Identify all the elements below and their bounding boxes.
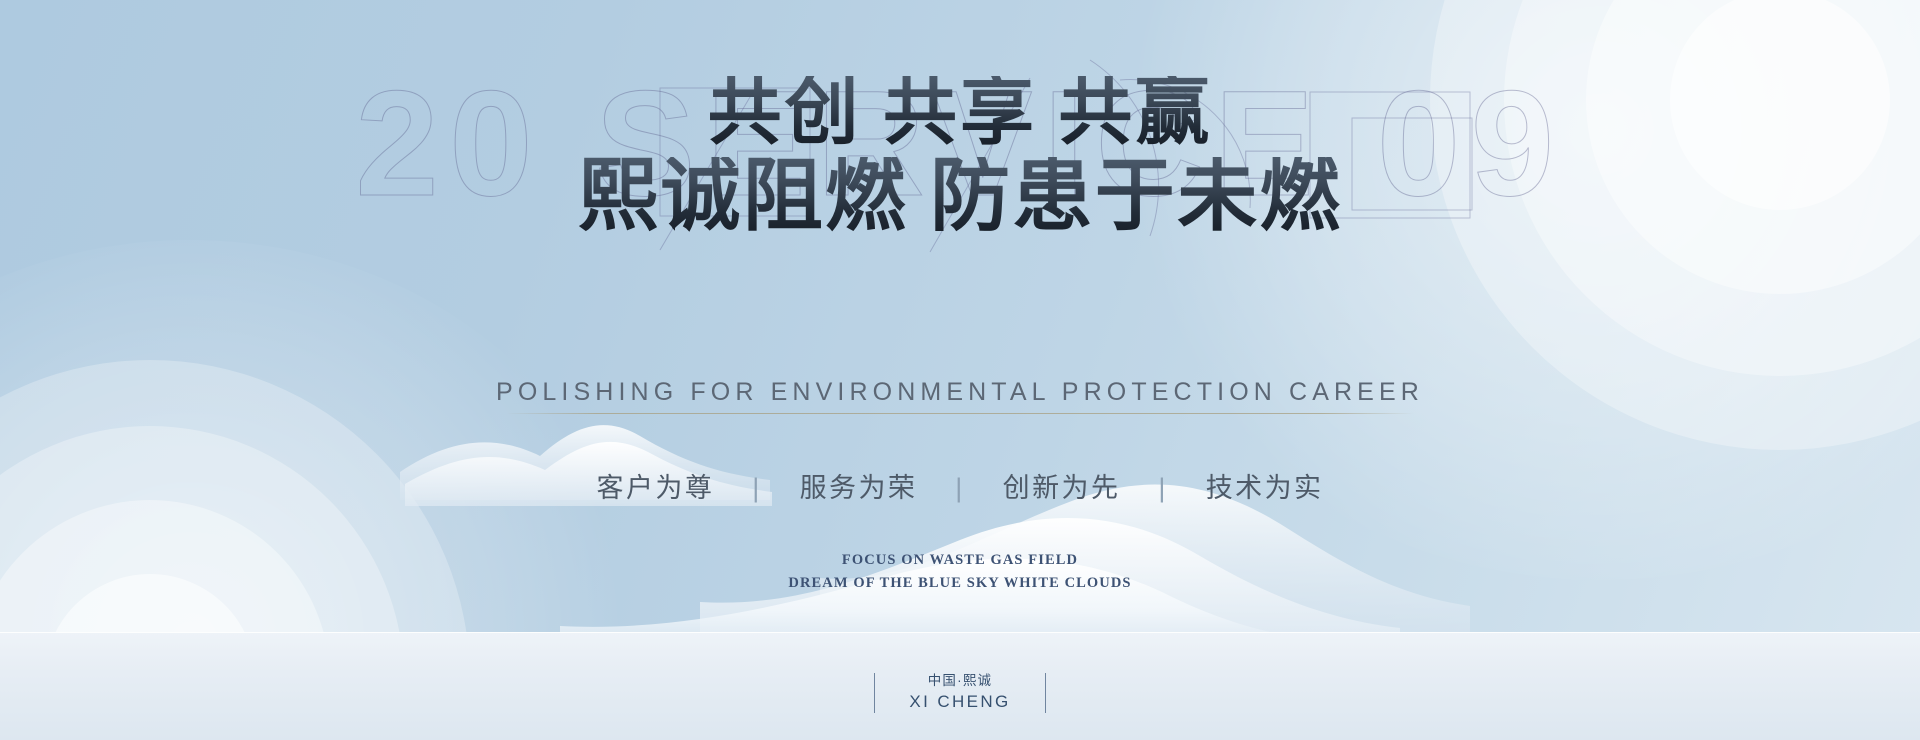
serif-english-line-2: DREAM OF THE BLUE SKY WHITE CLOUDS: [0, 572, 1920, 595]
value-separator-3: |: [1158, 473, 1167, 504]
value-phrase-1: 客户为尊: [597, 466, 715, 505]
brand-lockup: 中国·熙诚 XI CHENG: [0, 672, 1920, 714]
brand-name-en: XI CHENG: [909, 691, 1010, 714]
ghost-arc-lines-decoration: [0, 0, 1920, 740]
tagline-underline: [506, 413, 1414, 414]
serif-english-block: FOCUS ON WASTE GAS FIELD DREAM OF THE BL…: [0, 549, 1920, 596]
headline-line-1: 共创 共享 共赢: [0, 76, 1920, 151]
value-phrase-2: 服务为荣: [800, 466, 918, 505]
headline-block: 共创 共享 共赢 熙诚阻燃 防患于未燃: [0, 76, 1920, 239]
brand-name-cn: 中国·熙诚: [909, 672, 1010, 690]
brand-text: 中国·熙诚 XI CHENG: [909, 672, 1010, 714]
english-tagline: POLISHING FOR ENVIRONMENTAL PROTECTION C…: [0, 378, 1920, 407]
ring-inner: [1670, 0, 1890, 210]
value-separator-1: |: [752, 473, 761, 504]
value-phrase-3: 创新为先: [1003, 466, 1121, 505]
value-separator-2: |: [955, 473, 964, 504]
ghost-outline-wordmark: 20 SERVICE 09: [0, 68, 1920, 218]
ring-third: [1586, 0, 1920, 294]
serif-english-line-1: FOCUS ON WASTE GAS FIELD: [0, 549, 1920, 572]
headline-line-2: 熙诚阻燃 防患于未燃: [0, 157, 1920, 239]
brand-divider-left: [874, 673, 876, 713]
value-phrase-4: 技术为实: [1206, 466, 1324, 505]
ring-second: [1504, 0, 1920, 376]
brand-divider-right: [1045, 673, 1047, 713]
banner-stage: 20 SERVICE 09 共创 共享 共赢 熙诚阻燃 防患于未燃: [0, 0, 1920, 740]
value-phrases-row: 客户为尊 | 服务为荣 | 创新为先 | 技术为实: [0, 466, 1920, 505]
